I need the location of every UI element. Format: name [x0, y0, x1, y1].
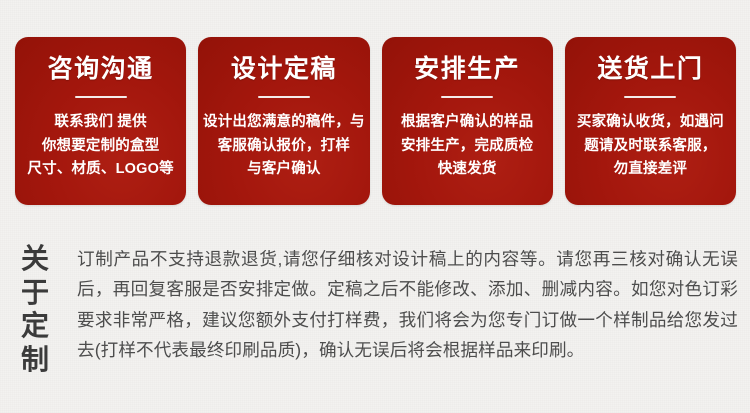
step-title: 咨询沟通: [48, 56, 154, 82]
step-divider: [258, 96, 310, 98]
vertical-title-char: 于: [20, 276, 50, 310]
step-description: 设计出您满意的稿件，与 客服确认报价，打样 与客户确认: [198, 111, 369, 181]
step-description: 联系我们 提供 你想要定制的盒型 尺寸、材质、LOGO等: [18, 111, 182, 181]
step-title: 送货上门: [597, 56, 703, 82]
step-description-line: 题请及时联系客服，: [577, 135, 724, 158]
vertical-title-char: 关: [20, 242, 50, 276]
step-description-line: 你想要定制的盒型: [27, 135, 173, 158]
vertical-title-char: 制: [20, 343, 50, 377]
step-divider: [75, 96, 127, 98]
step-description: 买家确认收货，如遇问 题请及时联系客服， 勿直接差评: [568, 111, 733, 181]
step-description-line: 安排生产，完成质检: [401, 135, 533, 158]
step-description-line: 联系我们 提供: [27, 111, 173, 134]
step-description-line: 根据客户确认的样品: [401, 111, 533, 134]
step-description-line: 尺寸、材质、LOGO等: [27, 158, 173, 181]
step-description-line: 与客户确认: [203, 158, 365, 181]
step-title: 设计定稿: [231, 56, 337, 82]
step-description: 根据客户确认的样品 安排生产，完成质检 快速发货: [392, 111, 542, 181]
step-title: 安排生产: [414, 56, 520, 82]
vertical-title-char: 定: [20, 309, 50, 343]
process-step-card-2: 设计定稿 设计出您满意的稿件，与 客服确认报价，打样 与客户确认: [198, 37, 369, 205]
promo-banner: 咨询沟通 联系我们 提供 你想要定制的盒型 尺寸、材质、LOGO等 设计定稿 设…: [0, 0, 750, 413]
customization-note-section: 关 于 定 制 订制产品不支持退款退货,请您仔细核对设计稿上的内容等。请您再三核…: [0, 230, 750, 413]
step-description-line: 快速发货: [401, 158, 533, 181]
note-section-vertical-title: 关 于 定 制: [0, 230, 70, 413]
note-paragraph: 订制产品不支持退款退货,请您仔细核对设计稿上的内容等。请您再三核对确认无误后，再…: [77, 244, 738, 365]
process-step-card-4: 送货上门 买家确认收货，如遇问 题请及时联系客服， 勿直接差评: [565, 37, 736, 205]
step-description-line: 买家确认收货，如遇问: [577, 111, 724, 134]
step-divider: [441, 96, 493, 98]
step-description-line: 设计出您满意的稿件，与: [203, 111, 365, 134]
step-description-line: 客服确认报价，打样: [203, 135, 365, 158]
step-description-line: 勿直接差评: [577, 158, 724, 181]
process-steps-row: 咨询沟通 联系我们 提供 你想要定制的盒型 尺寸、材质、LOGO等 设计定稿 设…: [15, 37, 736, 205]
step-divider: [624, 96, 676, 98]
process-step-card-3: 安排生产 根据客户确认的样品 安排生产，完成质检 快速发货: [382, 37, 553, 205]
process-step-card-1: 咨询沟通 联系我们 提供 你想要定制的盒型 尺寸、材质、LOGO等: [15, 37, 186, 205]
note-body: 订制产品不支持退款退货,请您仔细核对设计稿上的内容等。请您再三核对确认无误后，再…: [70, 230, 750, 413]
